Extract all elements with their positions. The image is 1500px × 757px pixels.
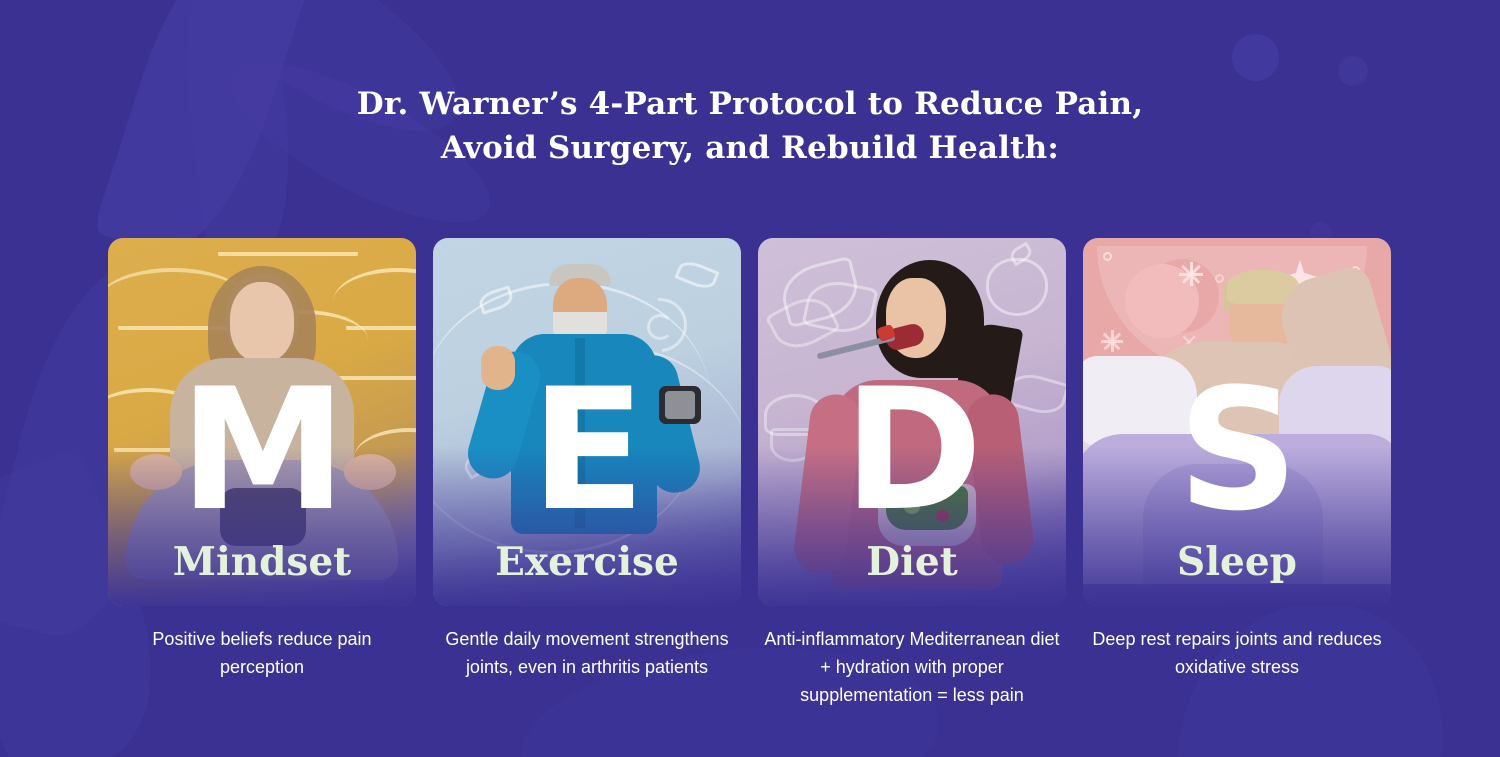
card-image-mindset: M Mindset	[108, 238, 416, 606]
circle-watermark-icon	[1232, 34, 1279, 81]
meds-card-mindset: M Mindset Positive beliefs reduce pain p…	[108, 238, 416, 709]
meds-card-diet: D Diet Anti-inflammatory Mediterranean d…	[758, 238, 1066, 709]
card-label-mindset: Mindset	[108, 540, 416, 584]
page-title-line-2: Avoid Surgery, and Rebuild Health:	[0, 126, 1500, 170]
card-caption-mindset: Positive beliefs reduce pain perception	[108, 625, 416, 681]
card-image-exercise: E Exercise	[433, 238, 741, 606]
meds-card-exercise: E Exercise Gentle daily movement strengt…	[433, 238, 741, 709]
card-image-sleep: S Sleep	[1083, 238, 1391, 606]
card-image-diet: D Diet	[758, 238, 1066, 606]
card-letter-mindset: M	[108, 366, 416, 534]
card-caption-diet: Anti-inflammatory Mediterranean diet + h…	[758, 625, 1066, 709]
meds-card-sleep: S Sleep Deep rest repairs joints and red…	[1083, 238, 1391, 709]
card-caption-exercise: Gentle daily movement strengthens joints…	[433, 625, 741, 681]
card-letter-exercise: E	[433, 366, 741, 534]
card-letter-sleep: S	[1083, 366, 1391, 534]
card-caption-sleep: Deep rest repairs joints and reduces oxi…	[1083, 625, 1391, 681]
card-label-exercise: Exercise	[433, 540, 741, 584]
card-label-diet: Diet	[758, 540, 1066, 584]
meds-card-row: M Mindset Positive beliefs reduce pain p…	[108, 238, 1392, 709]
card-letter-diet: D	[758, 366, 1066, 534]
meds-protocol-graphic: Dr. Warner’s 4-Part Protocol to Reduce P…	[0, 0, 1500, 757]
page-title: Dr. Warner’s 4-Part Protocol to Reduce P…	[0, 82, 1500, 170]
page-title-line-1: Dr. Warner’s 4-Part Protocol to Reduce P…	[0, 82, 1500, 126]
card-label-sleep: Sleep	[1083, 540, 1391, 584]
